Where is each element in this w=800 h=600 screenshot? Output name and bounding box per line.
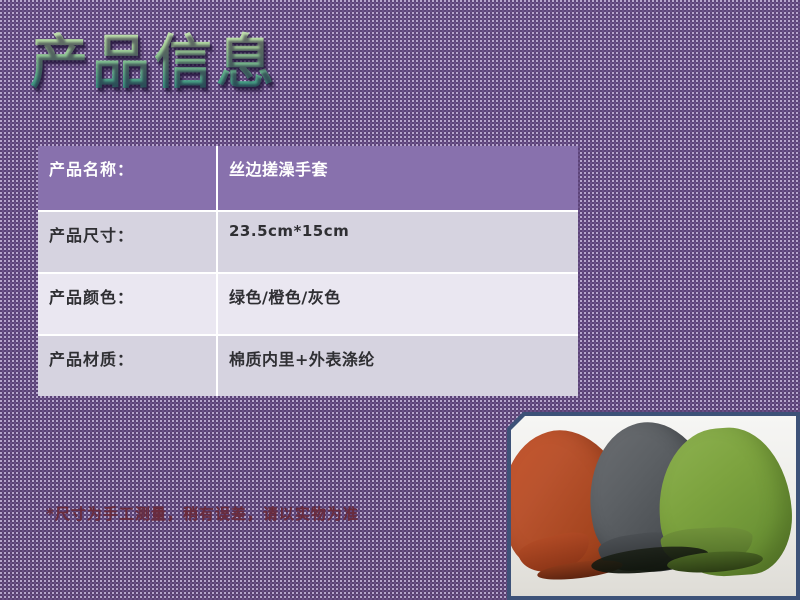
product-info-table: 产品名称： 丝边搓澡手套 产品尺寸： 23.5cm*15cm 产品颜色： xyxy=(38,146,578,396)
product-photo-frame xyxy=(507,412,800,600)
slide-canvas: 产品信息 产品名称： 丝边搓澡手套 产品尺寸： 23.5cm*15cm xyxy=(0,0,800,600)
table-cell-label: 产品名称： xyxy=(38,146,218,212)
row-label-product-material: 产品材质： xyxy=(49,350,134,369)
table-cell-value: 23.5cm*15cm xyxy=(218,212,578,274)
table-cell-value: 丝边搓澡手套 xyxy=(218,146,578,212)
table-cell-label: 产品颜色： xyxy=(38,274,218,336)
table-cell-value: 棉质内里+外表涤纶 xyxy=(218,336,578,396)
row-value-product-material: 棉质内里+外表涤纶 xyxy=(229,350,375,369)
row-value-product-name: 丝边搓澡手套 xyxy=(229,160,328,179)
table-row: 产品名称： 丝边搓澡手套 xyxy=(38,146,578,212)
table-row: 产品尺寸： 23.5cm*15cm xyxy=(38,212,578,274)
row-label-product-name: 产品名称： xyxy=(49,160,134,179)
table-row: 产品材质： 棉质内里+外表涤纶 xyxy=(38,336,578,396)
table-cell-label: 产品材质： xyxy=(38,336,218,396)
table-cell-label: 产品尺寸： xyxy=(38,212,218,274)
table-row: 产品颜色： 绿色/橙色/灰色 xyxy=(38,274,578,336)
row-label-product-size: 产品尺寸： xyxy=(49,226,134,245)
row-label-product-color: 产品颜色： xyxy=(49,288,134,307)
row-value-product-color: 绿色/橙色/灰色 xyxy=(229,288,341,307)
table-cell-value: 绿色/橙色/灰色 xyxy=(218,274,578,336)
measurement-disclaimer: *尺寸为手工测量，稍有误差，请以实物为准 xyxy=(46,503,476,524)
product-photo-image xyxy=(511,416,796,596)
page-title: 产品信息 xyxy=(30,26,510,104)
page-title-text: 产品信息 xyxy=(30,26,510,98)
row-value-product-size: 23.5cm*15cm xyxy=(229,222,349,240)
